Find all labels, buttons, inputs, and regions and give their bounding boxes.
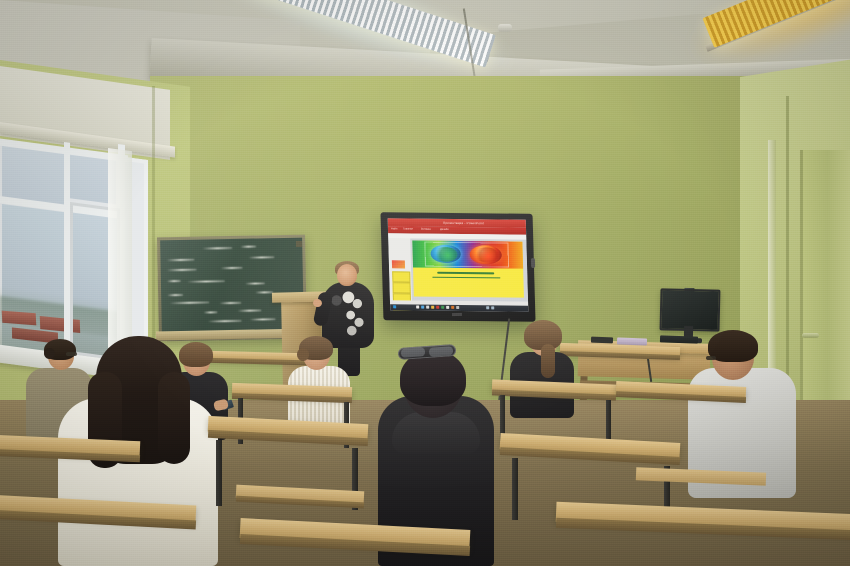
slide-thumbnail-pane[interactable] [388, 238, 412, 300]
presenter-blouse-pattern [340, 288, 368, 340]
keyboard[interactable] [660, 335, 698, 343]
slide-thumbnail[interactable] [392, 271, 410, 282]
taskbar-tray-icon[interactable] [486, 306, 489, 309]
tv-side-button[interactable] [531, 258, 535, 268]
glasses-icon [706, 356, 716, 360]
taskbar-app-icon[interactable] [446, 306, 449, 309]
tv-brand-logo [452, 313, 462, 316]
student-hair-bun [44, 348, 55, 359]
desk-leg [216, 440, 222, 506]
ribbon-tab-design[interactable]: Дизайн [440, 228, 449, 233]
taskbar-app-icon[interactable] [416, 306, 419, 309]
slide-editing-stage[interactable] [410, 239, 528, 302]
door-handle-icon[interactable] [802, 333, 819, 338]
student-ponytail [541, 344, 555, 378]
ceiling-sensor-icon [498, 24, 512, 32]
taskbar-app-icon[interactable] [456, 306, 459, 309]
student-hair-strand [158, 372, 190, 464]
student-hood [392, 412, 480, 454]
desk-leg [606, 400, 611, 444]
taskbar-app-icon[interactable] [441, 306, 444, 309]
current-slide[interactable] [412, 241, 524, 298]
tv-screen[interactable]: Презентация - PowerPoint Файл Главная Вс… [388, 218, 529, 311]
slide-globe-red-landmass [473, 247, 499, 262]
slide-globe-blue-landmass [432, 247, 458, 262]
taskbar-app-icon[interactable] [426, 306, 429, 309]
glasses-icon [66, 352, 77, 356]
chalkboard-clip-icon [296, 241, 302, 247]
taskbar-tray-icon[interactable] [491, 307, 494, 310]
glasses-lens [401, 347, 426, 358]
powerpoint-title-text: Презентация - PowerPoint [443, 220, 484, 224]
slide-caption-line [432, 277, 500, 279]
taskbar-app-icon[interactable] [436, 306, 439, 309]
desk-leg [512, 458, 518, 520]
glasses-lens [429, 346, 454, 357]
powerpoint-logo-icon [392, 260, 405, 268]
student-hair [179, 342, 213, 367]
classroom-photo: Презентация - PowerPoint Файл Главная Вс… [0, 0, 850, 566]
taskbar-app-icon[interactable] [431, 306, 434, 309]
ribbon-tab-home[interactable]: Главная [403, 227, 413, 232]
ribbon-tab-insert[interactable]: Вставка [421, 228, 431, 233]
taskbar-app-icon[interactable] [451, 306, 454, 309]
window-curtain [108, 148, 132, 351]
slide-thumbnail[interactable] [392, 282, 410, 293]
taskbar-app-icon[interactable] [421, 306, 424, 309]
slide-caption-line [437, 272, 494, 274]
desk-device [591, 337, 613, 344]
presenter-head [337, 264, 357, 286]
student-hair-bun [297, 348, 309, 361]
ribbon-tab-file[interactable]: Файл [391, 227, 398, 232]
taskbar-start-icon[interactable] [393, 305, 396, 308]
